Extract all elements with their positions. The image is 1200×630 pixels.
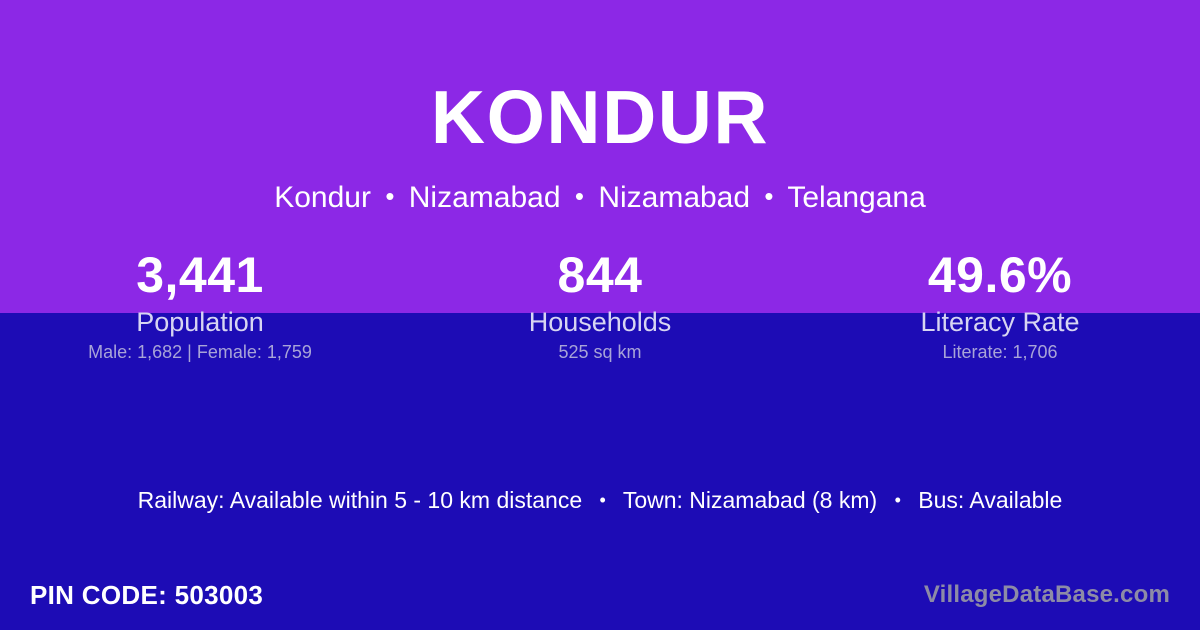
breadcrumb-separator: • (758, 181, 779, 211)
transport-separator: • (589, 490, 617, 510)
village-info-card: KONDUR Kondur • Nizamabad • Nizamabad • … (0, 0, 1200, 630)
stat-households-label: Households (400, 305, 800, 339)
site-brand[interactable]: VillageDataBase.com (924, 581, 1170, 609)
stat-population-breakdown: Male: 1,682 | Female: 1,759 (0, 339, 400, 365)
stat-literacy-value: 49.6% (800, 245, 1200, 305)
transport-separator: • (884, 490, 912, 510)
transport-item-town: Town: Nizamabad (8 km) (623, 487, 877, 513)
breadcrumb-item-state[interactable]: Telangana (787, 181, 925, 214)
breadcrumb-item-subdistrict[interactable]: Nizamabad (409, 181, 561, 214)
stat-literacy-count: Literate: 1,706 (800, 339, 1200, 365)
stat-households-value: 844 (400, 245, 800, 305)
breadcrumb-separator: • (379, 181, 400, 211)
stat-literacy-label: Literacy Rate (800, 305, 1200, 339)
breadcrumb-item-village[interactable]: Kondur (274, 181, 371, 214)
stat-population-label: Population (0, 305, 400, 339)
transport-item-bus: Bus: Available (918, 487, 1062, 513)
transport-info: Railway: Available within 5 - 10 km dist… (0, 485, 1200, 515)
pin-code: PIN CODE: 503003 (30, 580, 263, 611)
footer: PIN CODE: 503003 VillageDataBase.com (0, 560, 1200, 630)
stat-literacy: 49.6% Literacy Rate Literate: 1,706 (800, 245, 1200, 365)
breadcrumb-item-district[interactable]: Nizamabad (598, 181, 750, 214)
stat-population-value: 3,441 (0, 245, 400, 305)
transport-item-railway: Railway: Available within 5 - 10 km dist… (138, 487, 582, 513)
stat-population: 3,441 Population Male: 1,682 | Female: 1… (0, 245, 400, 365)
breadcrumb: Kondur • Nizamabad • Nizamabad • Telanga… (0, 181, 1200, 214)
stats-row: 3,441 Population Male: 1,682 | Female: 1… (0, 245, 1200, 365)
stat-households: 844 Households 525 sq km (400, 245, 800, 365)
stat-households-area: 525 sq km (400, 339, 800, 365)
breadcrumb-separator: • (569, 181, 590, 211)
page-title: KONDUR (0, 80, 1200, 155)
